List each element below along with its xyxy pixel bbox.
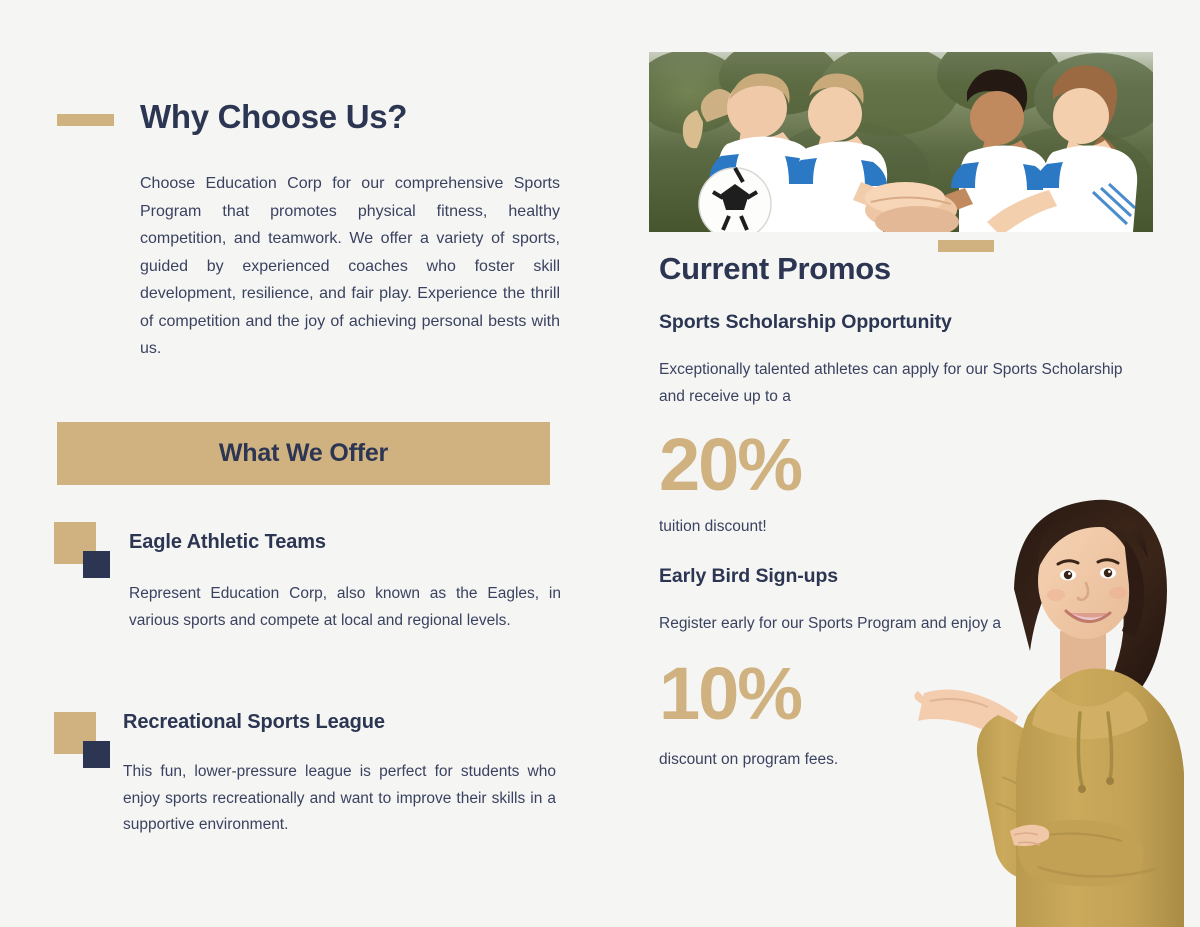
promo-discount-caption: discount on program fees. [659, 751, 1129, 769]
promo-discount-figure: 10% [659, 657, 1129, 731]
offer-title: Eagle Athletic Teams [129, 531, 649, 554]
promo-discount-figure: 20% [659, 428, 1129, 502]
promo-title: Early Bird Sign-ups [659, 565, 1129, 588]
offer-body: Represent Education Corp, also known as … [129, 581, 561, 634]
offer-item-eagle-athletic-teams: Eagle Athletic Teams Represent Education… [129, 531, 649, 634]
square-motif-icon [54, 522, 120, 588]
section-title-current-promos: Current Promos [659, 251, 891, 287]
page-title-why-choose-us: Why Choose Us? [140, 98, 407, 136]
right-column: Current Promos Sports Scholarship Opport… [600, 0, 1200, 927]
promo-body: Exceptionally talented athletes can appl… [659, 356, 1129, 410]
promo-early-bird-signups: Early Bird Sign-ups Register early for o… [659, 565, 1129, 769]
promo-body: Register early for our Sports Program an… [659, 610, 1129, 637]
slide-root: Why Choose Us? Choose Education Corp for… [0, 0, 1200, 927]
promo-discount-caption: tuition discount! [659, 518, 1129, 536]
promo-sports-scholarship: Sports Scholarship Opportunity Exception… [659, 311, 1129, 536]
what-we-offer-label: What We Offer [219, 439, 388, 468]
motif-navy-square-icon [83, 741, 110, 768]
offer-item-recreational-sports-league: Recreational Sports League This fun, low… [123, 711, 643, 839]
offer-title: Recreational Sports League [123, 711, 643, 734]
accent-bar-current-promos [938, 240, 994, 252]
accent-bar-why-choose [57, 114, 114, 126]
why-choose-paragraph: Choose Education Corp for our comprehens… [140, 170, 560, 363]
left-column: Why Choose Us? Choose Education Corp for… [0, 0, 600, 927]
team-photo [649, 52, 1153, 232]
square-motif-icon [54, 712, 120, 778]
promo-title: Sports Scholarship Opportunity [659, 311, 1129, 334]
offer-body: This fun, lower-pressure league is perfe… [123, 759, 556, 839]
what-we-offer-banner: What We Offer [57, 422, 550, 485]
motif-navy-square-icon [83, 551, 110, 578]
